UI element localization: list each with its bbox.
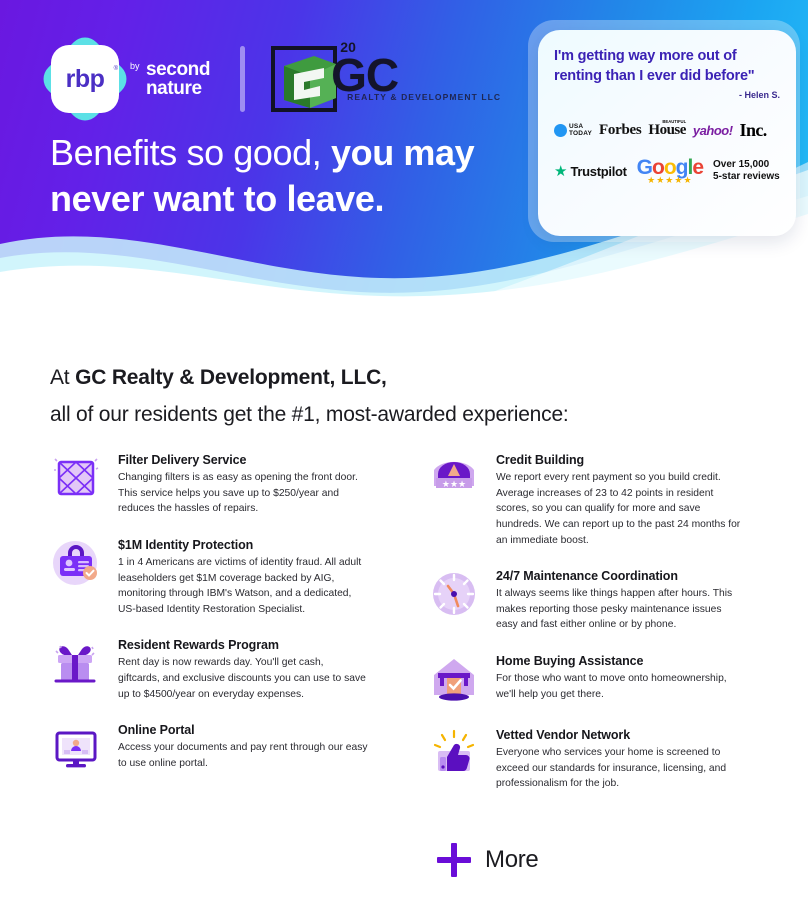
gc-realty-logo: 20 GC REALTY & DEVELOPMENT LLC [271, 40, 398, 118]
benefit-description: We report every rent payment so you buil… [496, 470, 746, 548]
benefit-description: Changing filters is as easy as opening t… [118, 470, 368, 517]
house-check-icon [426, 651, 482, 707]
second-nature-line1: second [146, 60, 210, 79]
benefit-title: Home Buying Assistance [496, 654, 746, 668]
testimonial-card: I'm getting way more out of renting than… [538, 30, 796, 236]
benefit-description: Access your documents and pay rent throu… [118, 740, 368, 771]
usa-today-line2: TODAY [569, 131, 592, 138]
plus-icon [437, 843, 471, 877]
house-beautiful-superscript: BEAUTIFUL [662, 119, 686, 124]
hero-heading: Benefits so good, you may never want to … [50, 130, 570, 222]
benefits-column-left: Filter Delivery Service Changing filters… [48, 450, 368, 794]
benefit-description: 1 in 4 Americans are victims of identity… [118, 555, 368, 618]
google-logo: Google ★★★★★ [637, 157, 703, 185]
svg-text:★★★: ★★★ [442, 480, 466, 490]
benefit-title: Vetted Vendor Network [496, 728, 746, 742]
benefit-description: Rent day is now rewards day. You'll get … [118, 655, 368, 702]
benefit-item[interactable]: Vetted Vendor Network Everyone who servi… [426, 725, 746, 792]
usa-today-logo: USA TODAY [554, 124, 592, 137]
benefit-item[interactable]: Home Buying Assistance For those who wan… [426, 651, 746, 707]
benefit-description: It always seems like things happen after… [496, 586, 746, 633]
thumbs-up-icon [426, 725, 482, 781]
benefit-title: Resident Rewards Program [118, 638, 368, 652]
usa-today-dot-icon [554, 124, 567, 137]
benefit-title: Online Portal [118, 723, 368, 737]
hero-heading-line2-bold: never want to leave. [50, 178, 384, 219]
hero-heading-line1-normal: Benefits so good, [50, 132, 331, 173]
section-title-line2: all of our residents get the #1, most-aw… [50, 403, 569, 426]
second-nature-wordmark: by second nature [130, 60, 210, 99]
press-logo-row: USA TODAY Forbes BEAUTIFUL House yahoo! … [554, 120, 780, 141]
benefits-flyer-page: rbp ® by second nature [0, 0, 808, 900]
testimonial-attribution: - Helen S. [554, 90, 780, 100]
trustpilot-star-icon: ★ [554, 164, 567, 179]
hero-heading-line1-bold: you may [331, 132, 474, 173]
benefit-item[interactable]: ★★★ Credit Building We report every rent… [426, 450, 746, 548]
review-count-line1: Over 15,000 [713, 159, 780, 171]
inc-logo: Inc. [740, 120, 767, 141]
rbp-logo-badge: rbp ® [48, 42, 122, 116]
id-badge-shield-icon [48, 535, 104, 591]
benefit-title: Credit Building [496, 453, 746, 467]
house-beautiful-word: House [648, 122, 686, 138]
gc-subtitle: REALTY & DEVELOPMENT LLC [347, 92, 501, 102]
ratings-row: ★ Trustpilot Google ★★★★★ Over 15,000 5-… [554, 157, 780, 185]
air-filter-icon [48, 450, 104, 506]
review-count: Over 15,000 5-star reviews [713, 159, 780, 183]
house-beautiful-logo: BEAUTIFUL House [648, 122, 686, 139]
benefit-description: Everyone who services your home is scree… [496, 745, 746, 792]
section-title-prefix: At [50, 366, 75, 389]
rbp-trademark-icon: ® [114, 66, 118, 72]
by-label: by [130, 62, 140, 71]
google-letter-e: e [692, 156, 703, 179]
gc-book-icon [280, 54, 338, 110]
benefit-item[interactable]: Online Portal Access your documents and … [48, 720, 368, 776]
gc-logo-frame [271, 46, 337, 112]
forbes-logo: Forbes [599, 122, 641, 139]
brand-logo-row: rbp ® by second nature [48, 40, 398, 118]
benefit-title: 24/7 Maintenance Coordination [496, 569, 746, 583]
second-nature-line2: nature [146, 79, 210, 98]
review-count-line2: 5-star reviews [713, 171, 780, 183]
benefit-item[interactable]: $1M Identity Protection 1 in 4 Americans… [48, 535, 368, 618]
section-title-company: GC Realty & Development, LLC, [75, 366, 387, 389]
benefit-item[interactable]: Resident Rewards Program Rent day is now… [48, 635, 368, 702]
trustpilot-label: Trustpilot [570, 164, 626, 179]
clock-icon [426, 566, 482, 622]
more-benefits-row[interactable]: More [437, 843, 538, 877]
logo-divider [240, 46, 245, 112]
benefit-item[interactable]: Filter Delivery Service Changing filters… [48, 450, 368, 517]
testimonial-quote: I'm getting way more out of renting than… [554, 46, 780, 86]
star-badge-icon: ★★★ [426, 450, 482, 506]
rbp-wordmark: rbp [66, 67, 105, 92]
gift-box-icon [48, 635, 104, 691]
trustpilot-logo: ★ Trustpilot [554, 164, 627, 179]
yahoo-logo: yahoo! [693, 123, 733, 138]
benefits-column-right: ★★★ Credit Building We report every rent… [426, 450, 746, 810]
benefit-title: Filter Delivery Service [118, 453, 368, 467]
benefit-item[interactable]: 24/7 Maintenance Coordination It always … [426, 566, 746, 633]
hero-section: rbp ® by second nature [0, 0, 808, 300]
benefit-title: $1M Identity Protection [118, 538, 368, 552]
more-label: More [485, 846, 538, 874]
desktop-monitor-icon [48, 720, 104, 776]
section-title: At GC Realty & Development, LLC, all of … [50, 360, 750, 434]
benefit-description: For those who want to move onto homeowne… [496, 671, 746, 702]
